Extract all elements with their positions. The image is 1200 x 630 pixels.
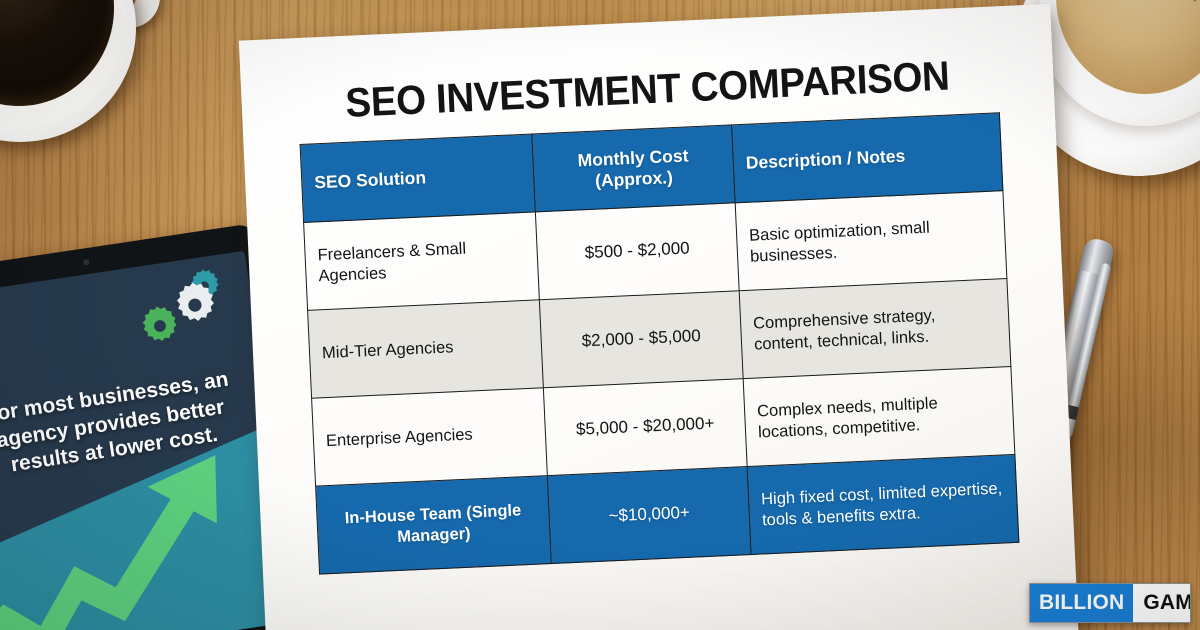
seo-investment-comparison-table: SEO Solution Monthly Cost (Approx.) Desc…	[300, 112, 1020, 574]
logo-secondary-text: GAME	[1133, 584, 1191, 622]
gear-group-icon	[123, 263, 241, 352]
tablet-camera-icon	[83, 259, 90, 266]
column-header-description: Description / Notes	[732, 113, 1003, 203]
cell-description: Comprehensive strategy, content, technic…	[739, 279, 1011, 379]
column-header-solution: SEO Solution	[300, 134, 535, 222]
black-coffee-cup	[0, 0, 204, 164]
cell-description: High fixed cost, limited expertise, tool…	[747, 454, 1019, 554]
table-body: Freelancers & Small Agencies $500 - $2,0…	[304, 191, 1019, 574]
cell-cost: $5,000 - $20,000+	[543, 379, 747, 476]
cell-cost: ~$10,000+	[547, 467, 751, 564]
cell-solution: Mid-Tier Agencies	[308, 300, 544, 398]
cell-solution: Enterprise Agencies	[312, 388, 548, 486]
cell-cost: $500 - $2,000	[535, 203, 739, 300]
cell-solution: In-House Team (Single Manager)	[316, 476, 552, 574]
logo-primary-text: BILLION	[1030, 584, 1133, 622]
gears-illustration	[123, 263, 241, 352]
cell-cost: $2,000 - $5,000	[539, 291, 743, 388]
cell-description: Basic optimization, small businesses.	[735, 191, 1007, 291]
cell-description: Complex needs, multiple locations, compe…	[743, 366, 1015, 466]
column-header-monthly-cost: Monthly Cost (Approx.)	[532, 125, 735, 212]
cell-solution: Freelancers & Small Agencies	[304, 212, 540, 310]
printed-comparison-sheet: SEO INVESTMENT COMPARISON SEO Solution M…	[239, 4, 1079, 630]
billion-game-logo: BILLION GAME	[1029, 583, 1191, 623]
